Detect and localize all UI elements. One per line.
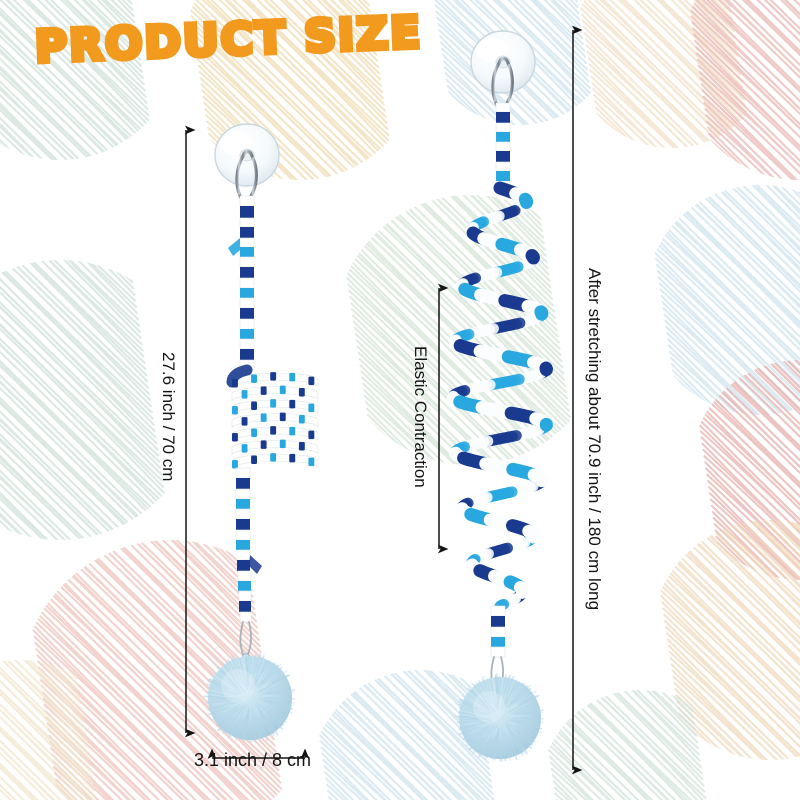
- label-elastic-contraction: Elastic Contraction: [410, 346, 430, 488]
- label-bottom-width: 3.1 inch / 8 cm: [194, 750, 311, 771]
- label-left-height: 27.6 inch / 70 cm: [158, 352, 178, 481]
- text-layer: PRODUCT SIZE 27.6 inch / 70 cm 3.1 inch …: [0, 0, 800, 800]
- page-title: PRODUCT SIZE: [34, 7, 423, 73]
- infographic-canvas: PRODUCT SIZE 27.6 inch / 70 cm 3.1 inch …: [0, 0, 800, 800]
- label-right-stretched: After stretching about 70.9 inch / 180 c…: [584, 268, 604, 610]
